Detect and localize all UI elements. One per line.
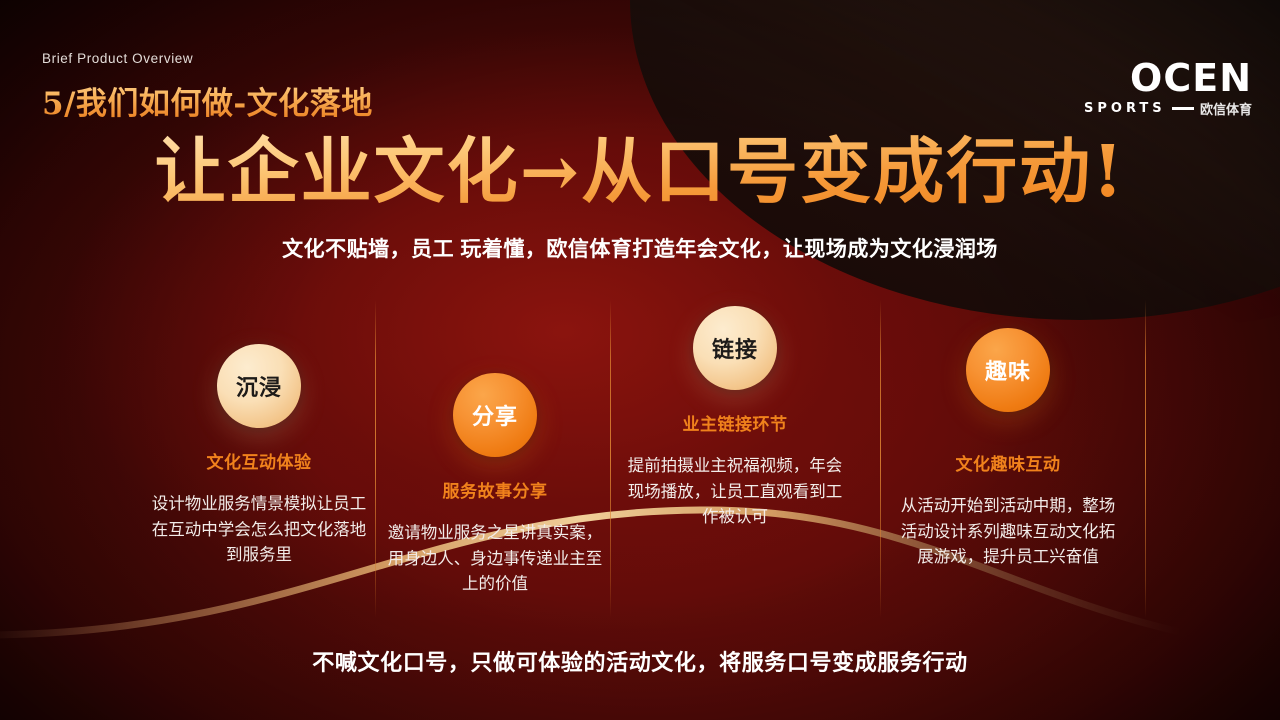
card-badge-label: 趣味 <box>985 354 1031 386</box>
logo-subrow: SPORTS 欧信体育 <box>1084 99 1252 118</box>
card-body-text: 邀请物业服务之星讲真实案，用身边人、身边事传递业主至上的价值 <box>377 520 613 597</box>
card-body-text: 设计物业服务情景模拟让员工在互动中学会怎么把文化落地到服务里 <box>141 491 377 568</box>
card-badge-label: 分享 <box>472 399 518 431</box>
footer-statement: 不喊文化口号，只做可体验的活动文化，将服务口号变成服务行动 <box>0 645 1280 677</box>
card-title: 服务故事分享 <box>377 477 613 502</box>
card-title: 文化趣味互动 <box>890 450 1126 475</box>
logo-wordmark: OCEN <box>1084 58 1252 98</box>
brand-logo: OCEN SPORTS 欧信体育 <box>1084 58 1252 120</box>
card-badge-circle: 链接 <box>693 306 777 390</box>
card-badge-label: 链接 <box>712 332 758 364</box>
card-title: 文化互动体验 <box>141 448 377 473</box>
logo-chinese-name: 欧信体育 <box>1200 99 1252 118</box>
card-immersion: 沉浸 文化互动体验 设计物业服务情景模拟让员工在互动中学会怎么把文化落地到服务里 <box>141 344 377 568</box>
card-body-text: 提前拍摄业主祝福视频，年会现场播放，让员工直观看到工作被认可 <box>617 453 853 530</box>
eyebrow-label: Brief Product Overview <box>42 51 193 66</box>
column-divider-4 <box>1145 300 1146 618</box>
card-badge-circle: 分享 <box>453 373 537 457</box>
card-sharing: 分享 服务故事分享 邀请物业服务之星讲真实案，用身边人、身边事传递业主至上的价值 <box>377 344 613 597</box>
logo-sports-text: SPORTS <box>1084 101 1166 116</box>
card-fun: 趣味 文化趣味互动 从活动开始到活动中期，整场活动设计系列趣味互动文化拓展游戏，… <box>890 306 1126 570</box>
slide-root: Brief Product Overview 5/我们如何做-文化落地 OCEN… <box>0 0 1280 720</box>
card-body-text: 从活动开始到活动中期，整场活动设计系列趣味互动文化拓展游戏，提升员工兴奋值 <box>890 493 1126 570</box>
card-title: 业主链接环节 <box>617 410 853 435</box>
column-divider-3 <box>880 300 881 618</box>
hero-subtitle: 文化不贴墙，员工 玩着懂，欧信体育打造年会文化，让现场成为文化浸润场 <box>0 233 1280 263</box>
card-badge-label: 沉浸 <box>236 370 282 402</box>
logo-divider-bar <box>1172 107 1194 110</box>
hero-title: 让企业文化→从口号变成行动! <box>0 134 1280 209</box>
card-badge-circle: 沉浸 <box>217 344 301 428</box>
card-connection: 链接 业主链接环节 提前拍摄业主祝福视频，年会现场播放，让员工直观看到工作被认可 <box>617 306 853 530</box>
card-badge-circle: 趣味 <box>966 328 1050 412</box>
section-title: 5/我们如何做-文化落地 <box>42 78 373 123</box>
